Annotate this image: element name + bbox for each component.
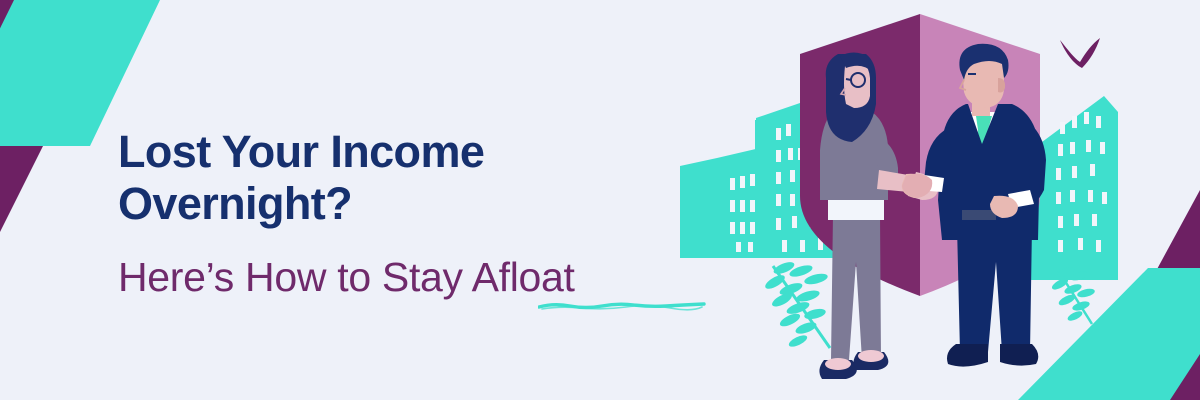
headline-line-1: Lost Your Income bbox=[118, 125, 718, 179]
man-shoe-right bbox=[1000, 344, 1038, 366]
building-right-main bbox=[1042, 96, 1118, 280]
woman-shoe-back-top bbox=[858, 350, 884, 362]
subheadline-wrap: Here’s How to Stay Afloat bbox=[118, 253, 575, 301]
woman-trousers bbox=[831, 214, 881, 360]
teal-squiggle-underline bbox=[538, 301, 706, 311]
text-block: Lost Your Income Overnight? Here’s How t… bbox=[118, 125, 718, 301]
man-trousers bbox=[957, 226, 1032, 352]
woman-shoe-front-top bbox=[825, 358, 851, 370]
headline-line-2: Overnight? bbox=[118, 177, 718, 231]
man-belt bbox=[962, 210, 996, 220]
man-shoe-left bbox=[947, 344, 988, 367]
promo-banner: Lost Your Income Overnight? Here’s How t… bbox=[0, 0, 1200, 400]
fern-leaf-left bbox=[763, 260, 830, 349]
subheadline: Here’s How to Stay Afloat bbox=[118, 253, 575, 301]
bird-icon bbox=[1060, 38, 1100, 68]
